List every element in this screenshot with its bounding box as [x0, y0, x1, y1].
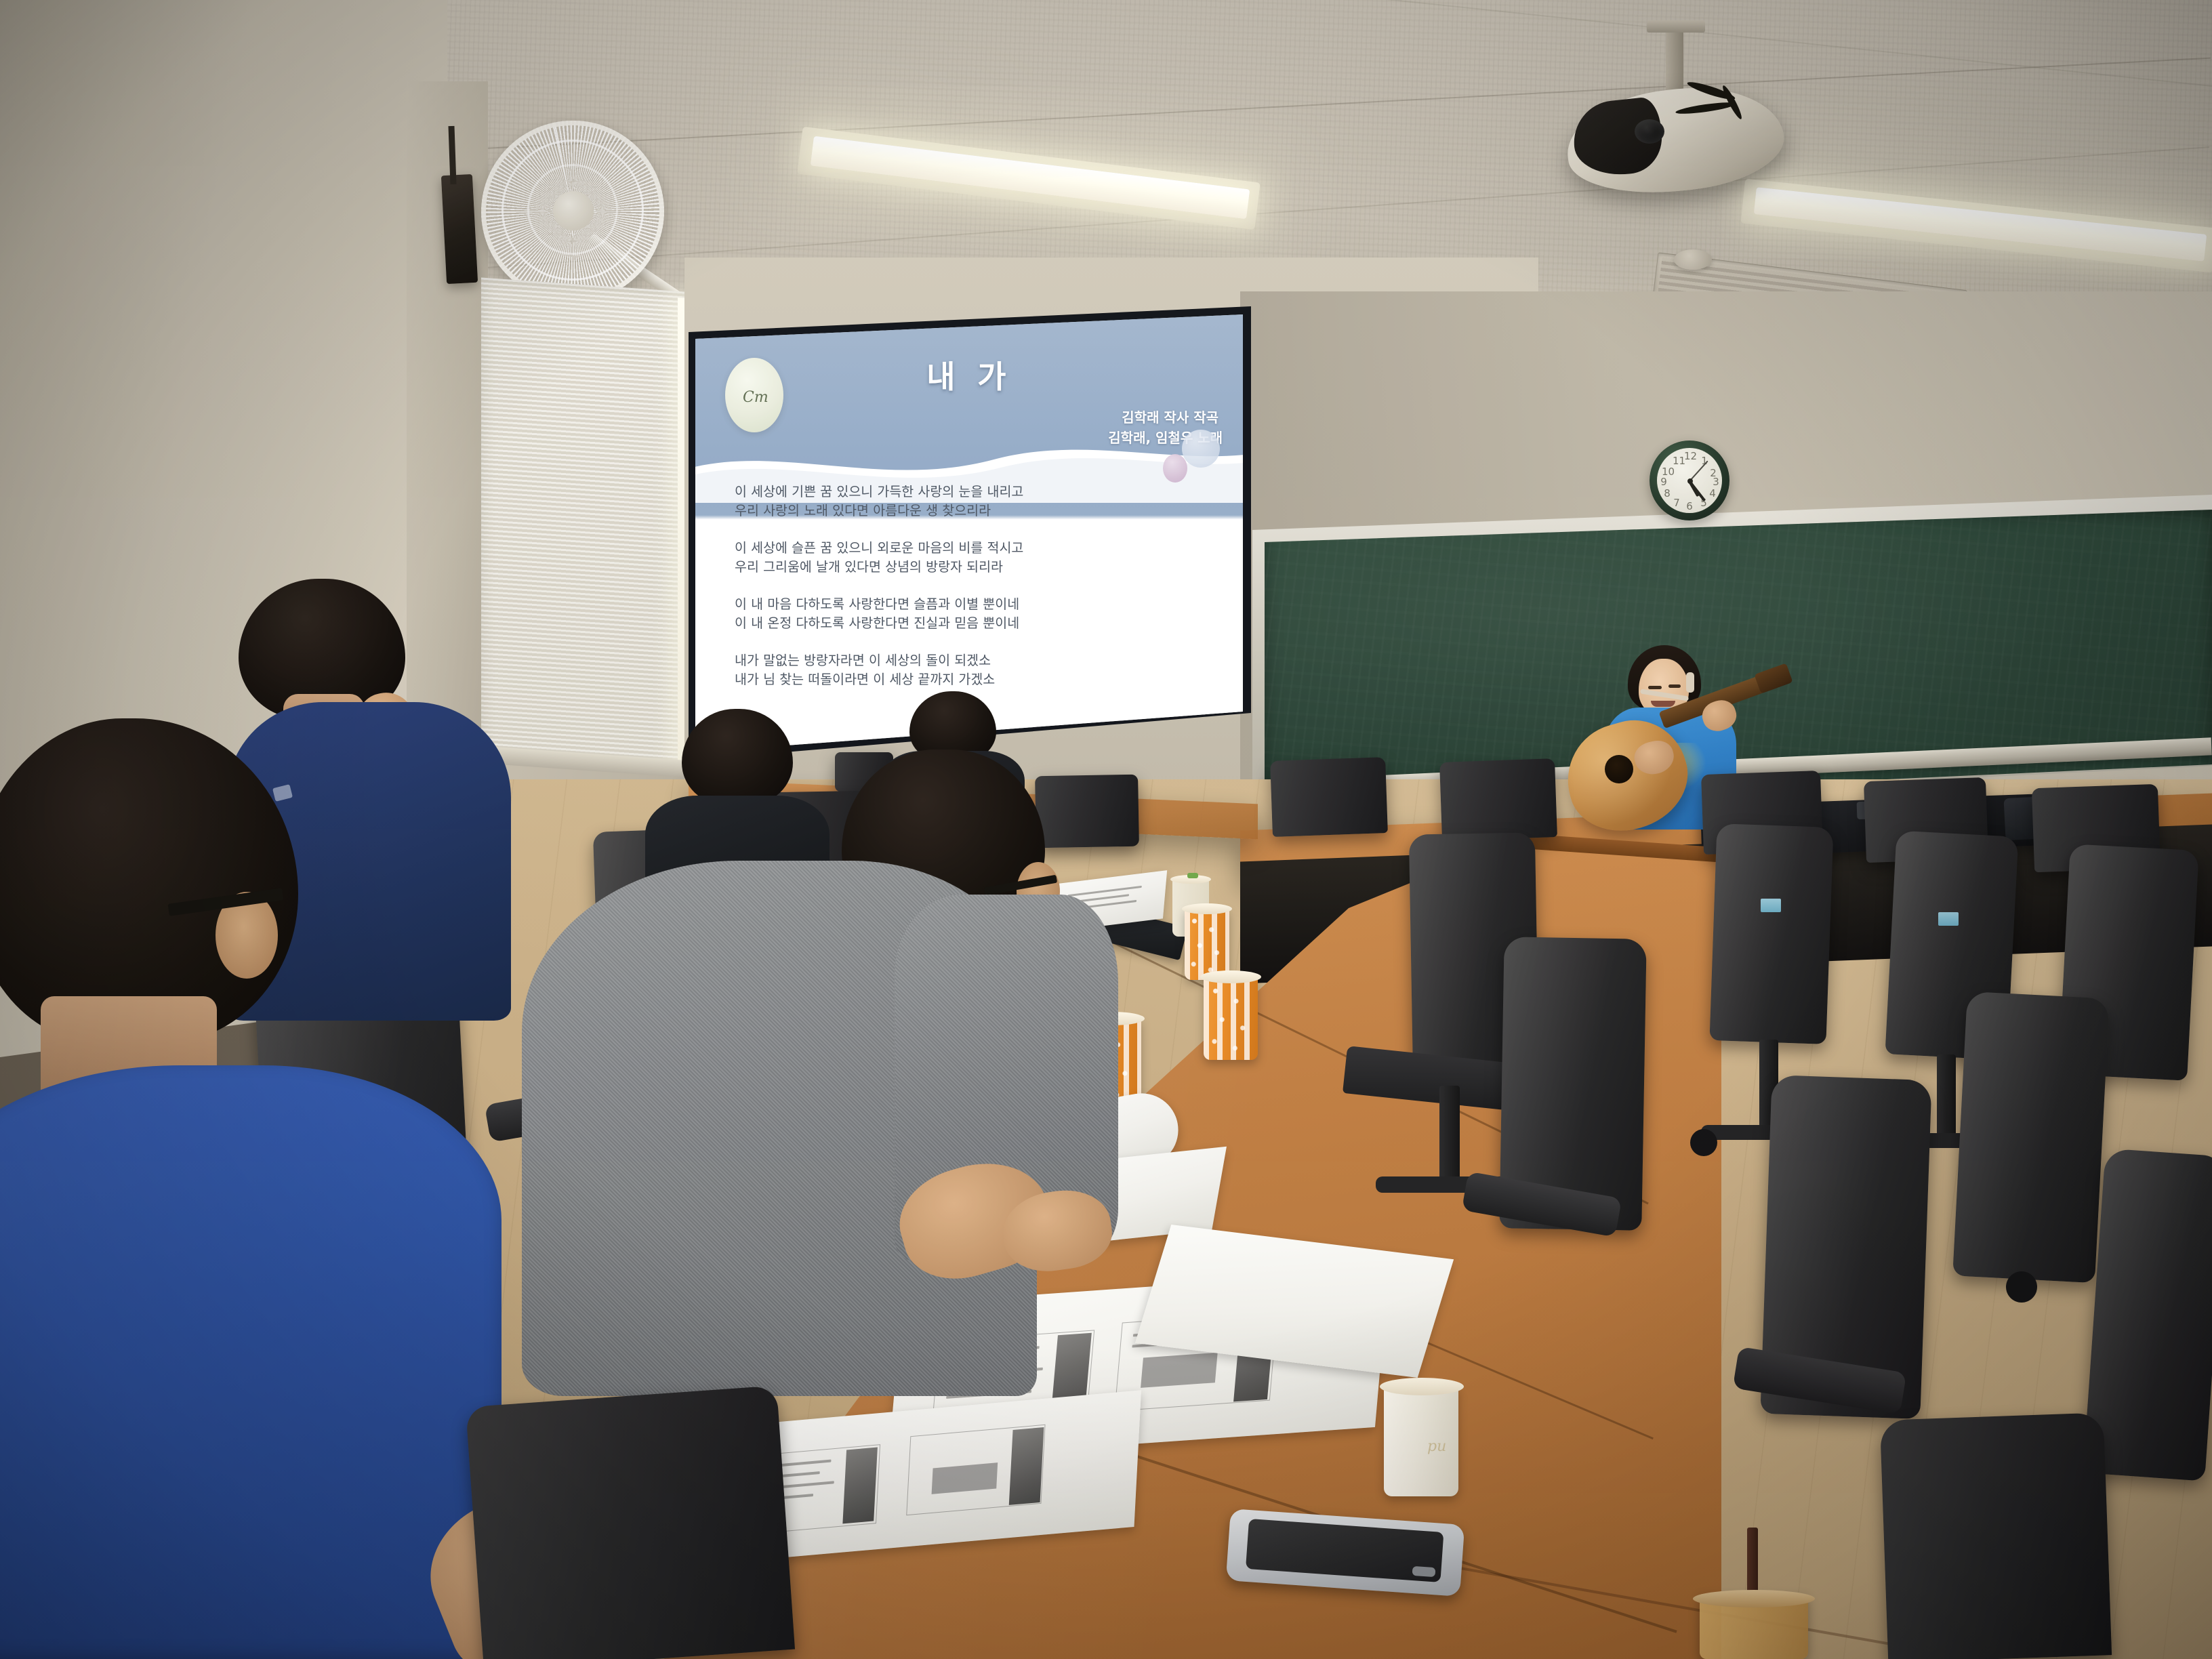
attendee-4-head: [682, 709, 793, 805]
chair-caster: [1690, 1129, 1717, 1156]
clock-numeral: 4: [1708, 487, 1717, 499]
cup-brand-mark: pu: [1427, 1438, 1457, 1450]
performer-eye: [1668, 684, 1681, 688]
projector-ceiling-plate: [1647, 20, 1705, 33]
slide-bubble-decoration: [1163, 454, 1187, 483]
performer-eye: [1648, 686, 1662, 689]
chair-backrest[interactable]: [1952, 991, 2110, 1283]
clock-numeral: 10: [1662, 466, 1674, 478]
performer-mouth: [1651, 701, 1675, 707]
slide-bubble-decoration: [1182, 430, 1220, 468]
smoke-detector: [1674, 249, 1712, 270]
chair-post: [1439, 1086, 1460, 1187]
clock-numeral: 7: [1672, 497, 1681, 509]
seminar-room-photo: 내 가 김학래 작사 작곡 김학래, 임철우 노래 Cm 이 세상에 기쁜 꿈 …: [0, 0, 2212, 1659]
window-blind: [481, 278, 684, 780]
clock-second-hand: [1689, 461, 1708, 482]
orange-paper-cup-1[interactable]: [1185, 908, 1229, 980]
fan-hub: [553, 191, 594, 230]
chair-backrest[interactable]: [1439, 758, 1557, 841]
clock-center-pin: [1687, 478, 1693, 484]
chair-backrest[interactable]: [1709, 823, 1833, 1044]
clock-numeral: 8: [1662, 487, 1672, 499]
chair-backrest[interactable]: [466, 1385, 795, 1659]
clock-numeral: 6: [1685, 500, 1694, 512]
chair-caster: [2006, 1271, 2037, 1303]
attendee-1-shirt: [0, 1065, 501, 1659]
headset-earpiece: [1686, 672, 1694, 693]
guitar-sound-hole: [1605, 755, 1633, 783]
clock-numeral: 3: [1711, 476, 1721, 488]
wall-clock: 12 1 2 3 4 5 6 7 8 9 10 11: [1650, 441, 1729, 520]
chair-backrest[interactable]: [1880, 1412, 2112, 1659]
projector-lens-icon: [1635, 119, 1664, 144]
clock-numeral: 11: [1673, 455, 1682, 467]
projection-screen: 내 가 김학래 작사 작곡 김학래, 임철우 노래 Cm 이 세상에 기쁜 꿈 …: [695, 313, 1243, 752]
presentation-slide: 내 가 김학래 작사 작곡 김학래, 임철우 노래 Cm 이 세상에 기쁜 꿈 …: [695, 313, 1243, 752]
clock-numeral: 12: [1684, 450, 1695, 462]
drink-rim: [1693, 1590, 1815, 1607]
clock-face: 12 1 2 3 4 5 6 7 8 9 10 11: [1657, 448, 1722, 513]
chair-label-tag: [1761, 899, 1781, 912]
wall-speaker: [441, 174, 478, 284]
slide-lyrics: 이 세상에 기쁜 꿈 있으니 가득한 사랑의 눈을 내리고 우리 사랑의 노래 …: [735, 483, 1209, 689]
phone-home-button[interactable]: [1412, 1566, 1436, 1577]
chair-post: [1937, 1054, 1956, 1143]
slide-egg-mark: Cm: [743, 389, 769, 406]
chair-backrest[interactable]: [1035, 775, 1139, 848]
chair-label-tag: [1938, 912, 1959, 926]
slide-credit-line-1: 김학래 작사 작곡: [995, 409, 1218, 427]
orange-paper-cup-2[interactable]: [1204, 976, 1258, 1060]
chair-backrest[interactable]: [1270, 757, 1388, 837]
cup-contents: [1187, 873, 1198, 878]
